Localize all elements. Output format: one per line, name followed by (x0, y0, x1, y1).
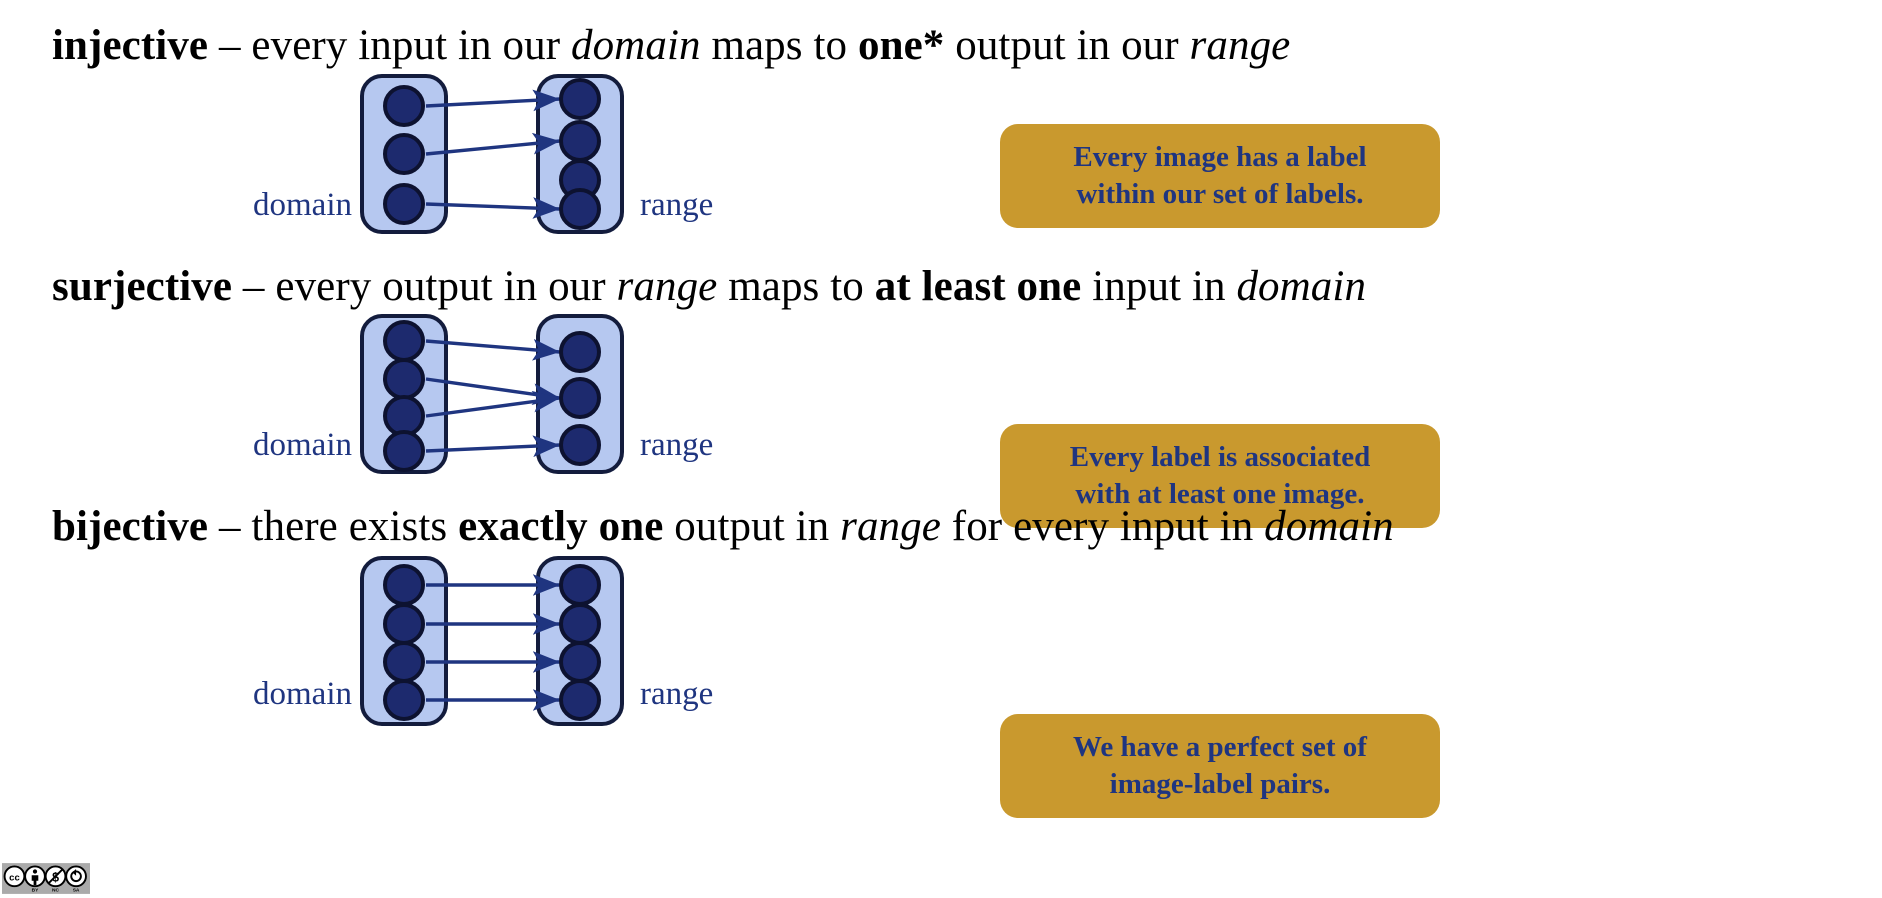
heading-dash: – (208, 503, 251, 550)
domain-node-4 (385, 432, 423, 470)
range-nodes (561, 80, 599, 228)
heading-seg1: every output in our (275, 263, 616, 310)
range-label: range (640, 676, 713, 712)
domain-label: domain (253, 676, 352, 712)
range-node-3 (561, 426, 599, 464)
callout-line-1: Every image has a label (1073, 139, 1366, 176)
callout-line-2: image-label pairs. (1073, 766, 1367, 803)
heading-emphasis-domain: domain (571, 22, 701, 69)
cc-license-badge[interactable]: cc $ BY NC SA (2, 863, 90, 894)
heading-emphasis-range: range (1190, 22, 1291, 69)
range-node-1 (561, 80, 599, 118)
range-node-2 (561, 605, 599, 643)
cc-icon: cc (5, 866, 25, 886)
callout-line-1: Every label is associated (1070, 439, 1370, 476)
domain-node-2 (385, 605, 423, 643)
cc-term-sa: SA (73, 888, 80, 894)
heading-seg3: output in (663, 503, 840, 550)
heading-strong: at least one (875, 263, 1082, 310)
heading-seg2: maps to (701, 22, 858, 69)
heading-seg1: every input in our (251, 22, 571, 69)
heading-seg4: for every input in (941, 503, 1264, 550)
heading-seg1: there exists (251, 503, 458, 550)
diagram-surjective: domain range (222, 310, 782, 478)
heading-dash: – (208, 22, 251, 69)
range-node-2 (561, 379, 599, 417)
callout-injective: Every image has a label within our set o… (1000, 124, 1440, 228)
sa-icon (66, 866, 86, 886)
range-node-1 (561, 333, 599, 371)
domain-label: domain (253, 187, 352, 223)
domain-node-3 (385, 643, 423, 681)
diagram-bijective: domain range (222, 552, 782, 730)
heading-emphasis-range: range (840, 503, 941, 550)
domain-node-2 (385, 360, 423, 398)
range-nodes (561, 333, 599, 464)
heading-bijective: bijective – there exists exactly one out… (52, 505, 1394, 548)
heading-strong: one* (858, 22, 944, 69)
callout-bijective: We have a perfect set of image-label pai… (1000, 714, 1440, 818)
slide-root: injective – every input in our domain ma… (0, 0, 1882, 898)
heading-strong: exactly one (458, 503, 663, 550)
callout-line-1: We have a perfect set of (1073, 729, 1367, 766)
nc-icon: $ (46, 866, 66, 886)
range-label: range (640, 427, 713, 463)
heading-emphasis-domain: domain (1264, 503, 1394, 550)
heading-seg3: output in our (944, 22, 1189, 69)
range-node-1 (561, 566, 599, 604)
domain-node-4 (385, 681, 423, 719)
diagram-injective: domain range (222, 70, 782, 238)
callout-line-2: within our set of labels. (1073, 176, 1366, 213)
heading-dash: – (232, 263, 275, 310)
cc-term-by: BY (32, 888, 39, 894)
range-node-4 (561, 190, 599, 228)
heading-surjective: surjective – every output in our range m… (52, 265, 1366, 308)
by-icon (25, 866, 45, 886)
range-node-2 (561, 122, 599, 160)
domain-node-1 (385, 566, 423, 604)
domain-node-2 (385, 135, 423, 173)
heading-seg3: input in (1081, 263, 1236, 310)
heading-term: injective (52, 22, 208, 69)
heading-seg2: maps to (717, 263, 874, 310)
domain-node-3 (385, 397, 423, 435)
range-label: range (640, 187, 713, 223)
domain-nodes (385, 87, 423, 223)
heading-term: surjective (52, 263, 232, 310)
heading-term: bijective (52, 503, 208, 550)
range-node-4 (561, 681, 599, 719)
range-node-3 (561, 643, 599, 681)
domain-node-1 (385, 87, 423, 125)
svg-text:cc: cc (9, 873, 20, 884)
heading-injective: injective – every input in our domain ma… (52, 24, 1290, 67)
domain-node-3 (385, 185, 423, 223)
heading-emphasis-range: range (617, 263, 718, 310)
heading-emphasis-domain: domain (1236, 263, 1366, 310)
domain-label: domain (253, 427, 352, 463)
domain-node-1 (385, 322, 423, 360)
cc-term-nc: NC (52, 888, 59, 894)
